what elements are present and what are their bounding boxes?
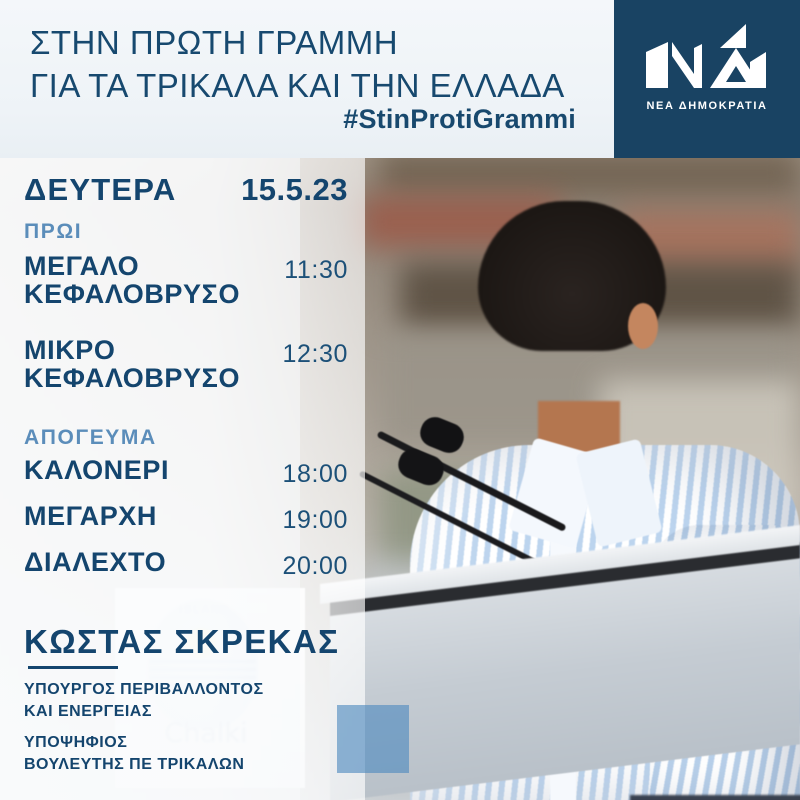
schedule-item-time: 11:30 (284, 256, 348, 285)
candidate-candidacy: ΥΠΟΨΗΦΙΟΣ ΒΟΥΛΕΥΤΗΣ ΠΕ ΤΡΙΚΑΛΩΝ (24, 732, 324, 775)
event-date: 15.5.23 (241, 172, 348, 208)
schedule-item-place-line2: ΚΕΦΑΛΟΒΡΥΣΟ (24, 280, 274, 308)
schedule-item-place-line1: ΜΙΚΡΟ (24, 336, 274, 364)
event-day: ΔΕΥΤΕΡΑ (24, 172, 176, 208)
schedule-panel: 15.5.23 ΔΕΥΤΕΡΑ ΠΡΩΙ 11:30 ΜΕΓΑΛΟ ΚΕΦΑΛΟ… (0, 158, 365, 800)
schedule-item-place-line1: ΜΕΓΑΛΟ (24, 252, 274, 280)
title-line-1: ΣΤΗΝ ΠΡΩΤΗ ΓΡΑΜΜΗ (30, 22, 590, 65)
afternoon-section-label: ΑΠΟΓΕΥΜΑ (24, 426, 348, 450)
campaign-hashtag: #StinProtiGrammi (0, 104, 576, 135)
schedule-item: 19:00 ΜΕΓΑΡΧΗ (24, 502, 348, 530)
schedule-item-time: 12:30 (282, 340, 348, 369)
party-logo-block: ΝΕΑ ΔΗΜΟΚΡΑΤΙΑ (614, 0, 800, 158)
schedule-item-place-line1: ΚΑΛΟΝΕΡΙ (24, 456, 274, 484)
schedule-item: 18:00 ΚΑΛΟΝΕΡΙ (24, 456, 348, 484)
trousers (630, 795, 800, 800)
schedule-item: 12:30 ΜΙΚΡΟ ΚΕΦΑΛΟΒΡΥΣΟ (24, 336, 348, 393)
candidate-name: ΚΩΣΤΑΣ ΣΚΡΕΚΑΣ (24, 623, 339, 661)
schedule-item-time: 19:00 (282, 506, 348, 535)
schedule-item-place-line2: ΚΕΦΑΛΟΒΡΥΣΟ (24, 364, 274, 392)
schedule-item-place-line1: ΜΕΓΑΡΧΗ (24, 502, 274, 530)
header-band: ΣΤΗΝ ΠΡΩΤΗ ΓΡΑΜΜΗ ΓΙΑ ΤΑ ΤΡΙΚΑΛΑ ΚΑΙ ΤΗΝ… (0, 0, 614, 158)
page-title: ΣΤΗΝ ΠΡΩΤΗ ΓΡΑΜΜΗ ΓΙΑ ΤΑ ΤΡΙΚΑΛΑ ΚΑΙ ΤΗΝ… (30, 22, 590, 108)
title-line-2: ΓΙΑ ΤΑ ΤΡΙΚΑΛΑ ΚΑΙ ΤΗΝ ΕΛΛΑΔΑ (30, 65, 590, 108)
candidate-candidacy-line1: ΥΠΟΨΗΦΙΟΣ (24, 732, 324, 754)
nea-dimokratia-logo-icon (642, 22, 774, 94)
schedule-item-time: 18:00 (282, 460, 348, 489)
candidate-candidacy-line2: ΒΟΥΛΕΥΤΗΣ ΠΕ ΤΡΙΚΑΛΩΝ (24, 754, 324, 776)
campaign-poster: ISLAND Chalki ΣΤΗΝ ΠΡΩΤΗ ΓΡΑΜΜΗ ΓΙΑ ΤΑ Τ… (0, 0, 800, 800)
schedule-item-place-line1: ΔΙΑΛΕΧΤΟ (24, 548, 274, 576)
day-date-row: 15.5.23 ΔΕΥΤΕΡΑ (24, 172, 348, 208)
face (496, 235, 646, 425)
candidate-divider (28, 666, 118, 669)
schedule-item: 20:00 ΔΙΑΛΕΧΤΟ (24, 548, 348, 576)
morning-section-label: ΠΡΩΙ (24, 220, 348, 244)
schedule-item: 11:30 ΜΕΓΑΛΟ ΚΕΦΑΛΟΒΡΥΣΟ (24, 252, 348, 309)
candidate-role-line1: ΥΠΟΥΡΓΟΣ ΠΕΡΙΒΑΛΛΟΝΤΟΣ (24, 679, 324, 701)
schedule-item-time: 20:00 (282, 552, 348, 581)
party-name-caption: ΝΕΑ ΔΗΜΟΚΡΑΤΙΑ (614, 100, 800, 112)
candidate-role-line2: ΚΑΙ ΕΝΕΡΓΕΙΑΣ (24, 701, 324, 723)
ear (628, 303, 658, 349)
candidate-role: ΥΠΟΥΡΓΟΣ ΠΕΡΙΒΑΛΛΟΝΤΟΣ ΚΑΙ ΕΝΕΡΓΕΙΑΣ (24, 679, 324, 722)
